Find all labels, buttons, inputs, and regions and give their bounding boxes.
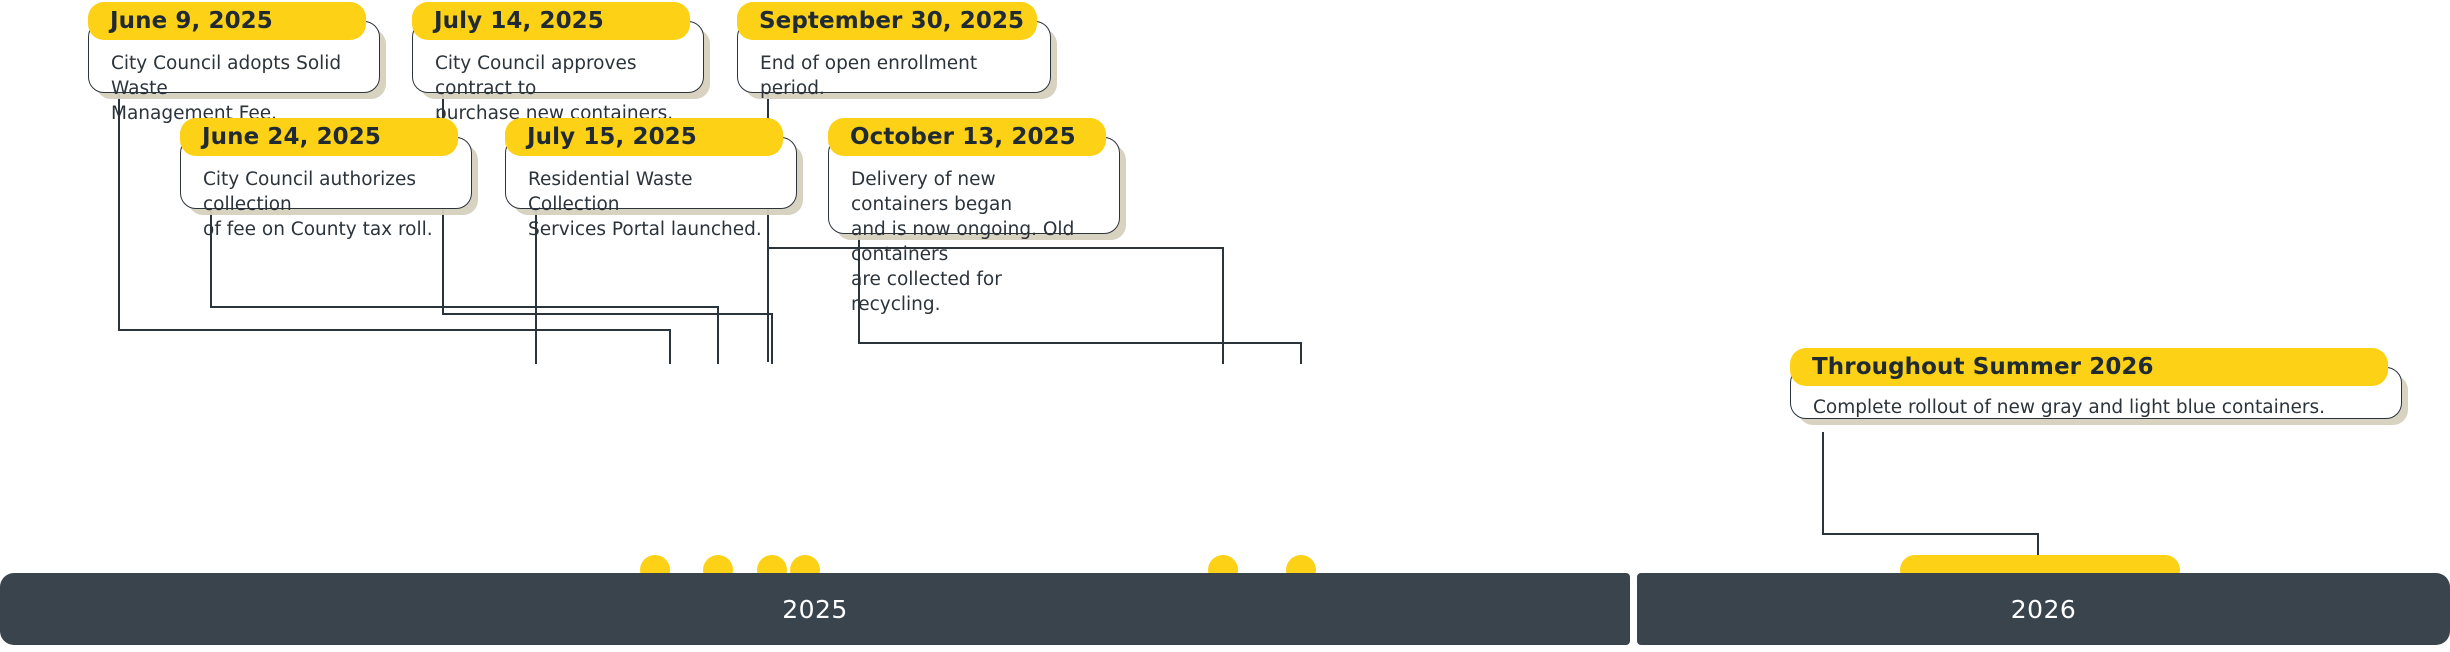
connector-july-14-drop [771,313,773,364]
event-text-line: End of open enrollment period. [760,52,1028,102]
axis-year-label-2026: 2026 [2011,595,2077,624]
event-text-line: are collected for recycling. [851,268,1097,318]
event-date-pill-throughout-summer-2026: Throughout Summer 2026 [1790,348,2388,386]
connector-summer-2026-horizontal [1822,533,2038,535]
connector-october-13-drop [1300,342,1302,364]
connector-summer-2026-vertical [1822,432,1824,534]
event-card-october-13-2025[interactable]: October 13, 2025 Delivery of new contain… [828,118,1128,234]
event-text-line: Delivery of new containers began [851,168,1097,218]
event-date-pill-june-24-2025: June 24, 2025 [180,118,458,156]
event-card-september-30-2025[interactable]: September 30, 2025 End of open enrollmen… [737,2,1059,93]
event-card-throughout-summer-2026[interactable]: Throughout Summer 2026 Complete rollout … [1790,348,2410,419]
event-text-line: City Council authorizes collection [203,168,449,218]
event-date-pill-october-13-2025: October 13, 2025 [828,118,1106,156]
connector-june-24-horizontal [210,306,718,308]
connector-october-13-horizontal [858,342,1301,344]
timeline-axis-2025: 2025 [0,573,1630,645]
event-date-pill-june-9-2025: June 9, 2025 [88,2,366,40]
event-date-october-13-2025: October 13, 2025 [850,124,1076,150]
event-date-pill-july-14-2025: July 14, 2025 [412,2,690,40]
event-date-july-15-2025: July 15, 2025 [527,124,697,150]
event-card-june-9-2025[interactable]: June 9, 2025 City Council adopts Solid W… [88,2,388,93]
event-date-june-9-2025: June 9, 2025 [110,8,273,34]
event-date-pill-july-15-2025: July 15, 2025 [505,118,783,156]
connector-september-30-drop [1222,247,1224,364]
event-date-july-14-2025: July 14, 2025 [434,8,604,34]
event-text-line: of fee on County tax roll. [203,218,449,243]
event-date-september-30-2025: September 30, 2025 [759,8,1024,34]
event-card-july-15-2025[interactable]: July 15, 2025 Residential Waste Collecti… [505,118,805,209]
event-text-line: City Council adopts Solid Waste [111,52,357,102]
event-date-throughout-summer-2026: Throughout Summer 2026 [1812,354,2154,380]
event-text-line: Complete rollout of new gray and light b… [1813,396,2379,421]
event-text-line: Services Portal launched. [528,218,774,243]
event-text-line: Residential Waste Collection [528,168,774,218]
axis-year-label-2025: 2025 [782,595,848,624]
event-date-june-24-2025: June 24, 2025 [202,124,381,150]
timeline-axis-2026: 2026 [1637,573,2450,645]
event-text-line: and is now ongoing. Old containers [851,218,1097,268]
connector-june-9-drop [669,329,671,364]
event-card-june-24-2025[interactable]: June 24, 2025 City Council authorizes co… [180,118,480,209]
event-card-july-14-2025[interactable]: July 14, 2025 City Council approves cont… [412,2,712,93]
connector-june-9-horizontal [118,329,670,331]
event-date-pill-september-30-2025: September 30, 2025 [737,2,1037,40]
event-text-line: City Council approves contract to [435,52,681,102]
connector-july-14-horizontal [442,313,772,315]
timeline-infographic: 2025 2026 June 9, 2025 City Council adop… [0,0,2450,652]
